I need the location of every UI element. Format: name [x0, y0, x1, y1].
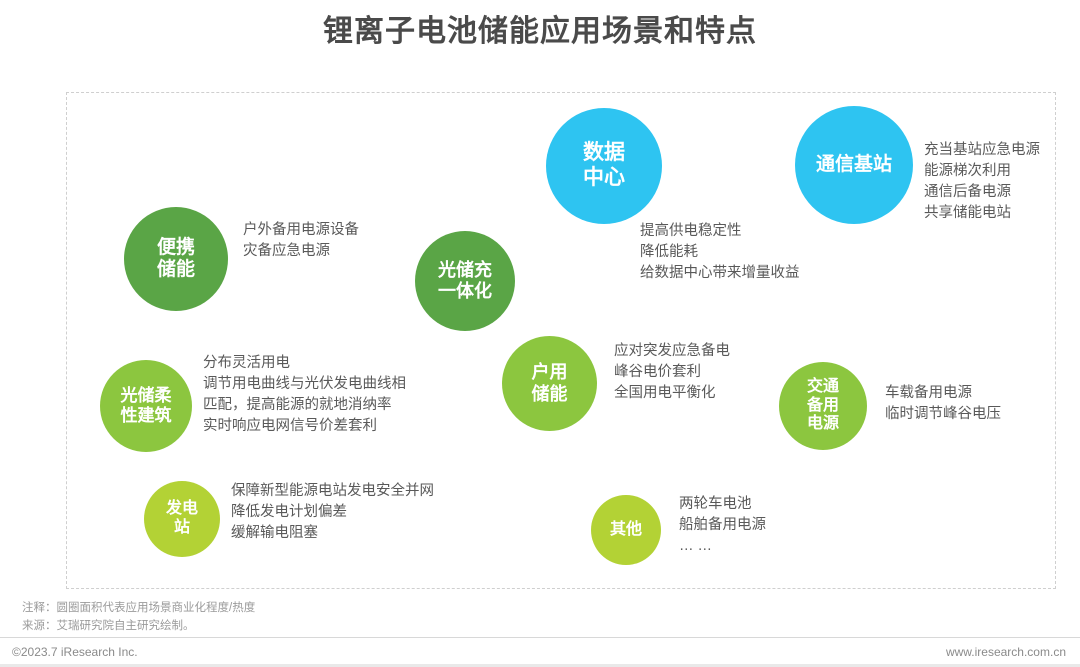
bubble-flexible-building[interactable]: 光储柔 性建筑	[100, 360, 192, 452]
bubble-label: 数据 中心	[546, 141, 662, 191]
copyright-text: ©2023.7 iResearch Inc.	[12, 645, 138, 659]
source-line: 来源：艾瑞研究院自主研究绘制。	[22, 618, 255, 636]
description-transport-backup-power: 车载备用电源 临时调节峰谷电压	[885, 383, 1001, 425]
description-portable-storage: 户外备用电源设备 灾备应急电源	[243, 220, 359, 262]
bubble-label: 发电 站	[144, 500, 220, 538]
source-text: 艾瑞研究院自主研究绘制。	[57, 620, 195, 632]
bubble-portable-storage[interactable]: 便携 储能	[124, 207, 228, 311]
footer-divider	[0, 637, 1080, 638]
footer-bar: ©2023.7 iResearch Inc. www.iresearch.com…	[0, 640, 1080, 667]
description-other: 两轮车电池 船舶备用电源 … …	[679, 494, 766, 557]
bubble-pv-storage-charging[interactable]: 光储充 一体化	[415, 231, 515, 331]
bubble-label: 光储充 一体化	[415, 260, 515, 302]
bubble-label: 通信基站	[795, 154, 913, 176]
bubble-data-center[interactable]: 数据 中心	[546, 108, 662, 224]
bubble-household-storage[interactable]: 户用 储能	[502, 336, 597, 431]
bubble-transport-backup-power[interactable]: 交通 备用 电源	[779, 362, 867, 450]
description-data-center: 提高供电稳定性 降低能耗 给数据中心带来增量收益	[640, 221, 800, 284]
bubble-power-plant[interactable]: 发电 站	[144, 481, 220, 557]
infographic-page: 锂离子电池储能应用场景和特点 便携 储能数据 中心通信基站光储充 一体化光储柔 …	[0, 0, 1080, 667]
note-line: 注释：圆圈面积代表应用场景商业化程度/热度	[22, 600, 255, 618]
website-link[interactable]: www.iresearch.com.cn	[946, 645, 1066, 659]
description-power-plant: 保障新型能源电站发电安全并网 降低发电计划偏差 缓解输电阻塞	[231, 481, 434, 544]
bubble-other[interactable]: 其他	[591, 495, 661, 565]
bubble-label: 户用 储能	[502, 362, 597, 404]
note-text: 圆圈面积代表应用场景商业化程度/热度	[57, 602, 256, 614]
description-household-storage: 应对突发应急备电 峰谷电价套利 全国用电平衡化	[614, 341, 730, 404]
source-label: 来源：	[22, 620, 57, 632]
bubble-label: 其他	[591, 521, 661, 540]
bubble-label: 光储柔 性建筑	[100, 386, 192, 426]
bubble-label: 交通 备用 电源	[779, 378, 867, 435]
note-label: 注释：	[22, 602, 57, 614]
bubble-label: 便携 储能	[124, 237, 228, 282]
bubble-telecom-base-station[interactable]: 通信基站	[795, 106, 913, 224]
page-title: 锂离子电池储能应用场景和特点	[0, 14, 1080, 50]
description-flexible-building: 分布灵活用电 调节用电曲线与光伏发电曲线相 匹配，提高能源的就地消纳率 实时响应…	[203, 353, 406, 437]
description-telecom-base-station: 充当基站应急电源 能源梯次利用 通信后备电源 共享储能电站	[924, 140, 1040, 224]
footnotes: 注释：圆圈面积代表应用场景商业化程度/热度 来源：艾瑞研究院自主研究绘制。	[22, 600, 255, 636]
